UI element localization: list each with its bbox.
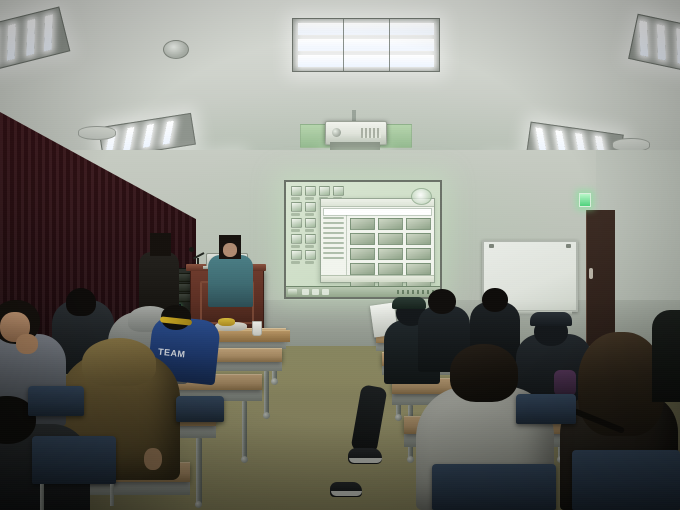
presenter-at-podium-body	[208, 255, 253, 307]
attendee-right-back-dark-head	[482, 288, 508, 312]
round-downlight-icon	[163, 40, 189, 59]
attendee-dark-left-back-head	[66, 288, 96, 316]
attendee-shoe-sole	[349, 458, 382, 463]
desktop-icon	[305, 250, 314, 264]
thumbnail-item[interactable]	[406, 233, 431, 245]
chair-leg	[110, 484, 114, 506]
attendee-purple-scarf-accent	[554, 370, 576, 396]
thumbnail-item[interactable]	[378, 263, 403, 275]
chair-left-c[interactable]	[176, 396, 224, 422]
attendee-sneaker-sole	[331, 491, 362, 496]
ceiling-light-panel-top-center	[292, 18, 440, 72]
desktop-icon	[291, 218, 300, 232]
chair-left-b[interactable]	[32, 436, 116, 484]
desktop-icon	[291, 186, 300, 200]
chair-right-c[interactable]	[516, 394, 576, 424]
desk-leg	[242, 401, 247, 459]
whiteboard-clip-icon	[566, 244, 571, 248]
thumbnail-item[interactable]	[378, 218, 403, 230]
thumbnail-item[interactable]	[378, 248, 403, 260]
desktop-icon	[291, 202, 300, 216]
explorer-status-bar	[321, 275, 434, 282]
chair-left-a[interactable]	[28, 386, 84, 416]
thumbnail-item[interactable]	[406, 263, 431, 275]
taskbar-button[interactable]	[302, 289, 309, 295]
snack-food	[218, 318, 235, 326]
explorer-nav-pane[interactable]	[321, 215, 347, 275]
attendee-navy-cap-cap-icon	[530, 312, 572, 326]
attendee-cap-reading-cap-icon	[392, 297, 426, 309]
taskbar-button[interactable]	[322, 289, 329, 295]
desktop-icon	[305, 186, 314, 200]
attendee-olive-hooded-coat-hood	[82, 338, 156, 386]
thumbnail-grid[interactable]	[347, 215, 434, 275]
desktop-icon	[291, 250, 300, 264]
projected-taskbar[interactable]	[286, 286, 440, 297]
desktop-icon	[291, 234, 300, 248]
desk-leg	[196, 438, 202, 504]
desk-leg	[264, 371, 269, 415]
door-handle-icon[interactable]	[589, 268, 593, 279]
projector-lens-icon	[332, 128, 341, 137]
attendee-olive-hooded-coat-hand	[144, 448, 162, 470]
thumbnail-item[interactable]	[350, 263, 375, 275]
microphone-head-icon	[189, 247, 194, 252]
chair-leg	[40, 484, 44, 510]
thumbnail-item[interactable]	[406, 218, 431, 230]
presenter-standing-left-body	[139, 252, 179, 312]
thumbnail-item[interactable]	[350, 218, 375, 230]
paper-cup	[252, 321, 262, 336]
start-button-icon[interactable]	[288, 289, 297, 295]
taskbar-button[interactable]	[312, 289, 319, 295]
whiteboard-clip-icon	[489, 244, 494, 248]
thumbnail-item[interactable]	[378, 233, 403, 245]
desktop-icon	[305, 202, 314, 216]
attendee-mid-right-dark-head	[428, 289, 456, 314]
chair-right-a[interactable]	[432, 464, 556, 510]
thumbnail-item[interactable]	[406, 248, 431, 260]
attendee-far-right-edge-body	[652, 310, 680, 402]
screen-watermark-logo-icon	[411, 188, 432, 205]
thumbnail-item[interactable]	[350, 233, 375, 245]
attendee-cream-sweater-head	[450, 344, 518, 402]
emergency-exit-sign-icon	[579, 193, 591, 207]
file-explorer-window[interactable]	[320, 198, 435, 283]
projector-vent-icon	[361, 128, 381, 138]
chair-right-b[interactable]	[572, 450, 680, 510]
lecture-hall-photo: TEAM	[0, 0, 680, 510]
desktop-icon	[305, 218, 314, 232]
desktop-icon	[305, 234, 314, 248]
air-vent-left	[78, 126, 116, 140]
attendee-front-left-grey-hand	[16, 334, 38, 354]
thumbnail-item[interactable]	[350, 248, 375, 260]
presenter-standing-left-head	[150, 233, 171, 256]
projection-screen	[284, 180, 442, 299]
presenter-at-podium-face	[223, 243, 237, 257]
